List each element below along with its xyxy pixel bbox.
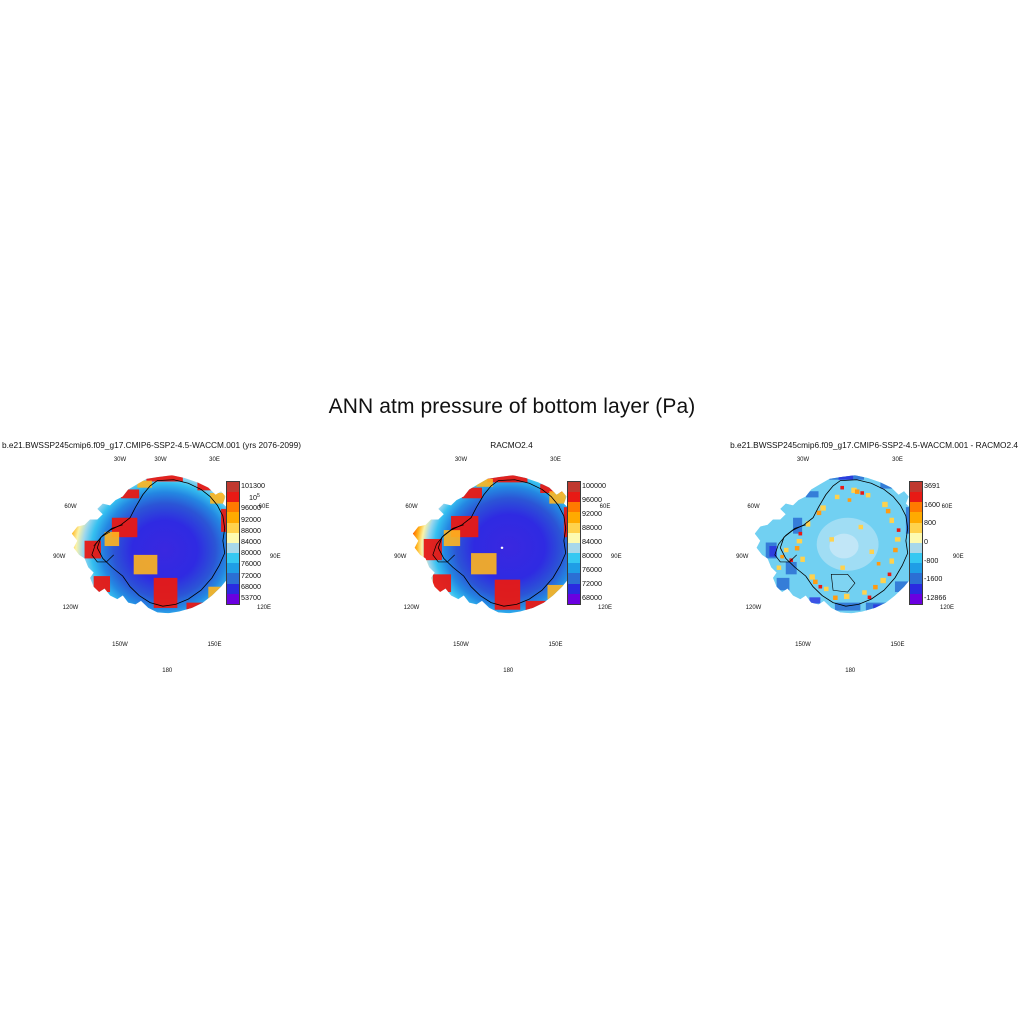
colorbar-segment (909, 594, 923, 605)
lon-label-150e: 150E (548, 642, 562, 648)
colorbar-tick-label: -1600 (924, 575, 942, 583)
lon-label-180: 180 (503, 668, 513, 674)
colorbar-tick-label: 72000 (241, 572, 261, 580)
colorbar-segment (567, 563, 581, 573)
colorbar-tick-label: 96000 (582, 496, 602, 504)
colorbar-tick-label: 88000 (241, 527, 261, 535)
colorbar-tick-label: 96000 (241, 504, 261, 512)
lon-label-120e: 120E (940, 605, 954, 611)
colorbar-segment (909, 533, 923, 543)
colorbar-segment (226, 573, 240, 583)
page-title: ANN atm pressure of bottom layer (Pa) (0, 395, 1024, 419)
colorbar-tick-label: 105 (249, 492, 260, 502)
panel-right-title: b.e21.BWSSP245cmip6.f09_g17.CMIP6-SSP2-4… (730, 440, 1018, 450)
colorbar-segment (567, 481, 581, 492)
colorbar-segment (226, 543, 240, 553)
colorbar-tick-label: -12866 (924, 594, 946, 602)
colorbar-tick-label: -800 (924, 557, 938, 565)
colorbar-segment (567, 492, 581, 502)
colorbar-segment (567, 573, 581, 583)
panel-right: b.e21.BWSSP245cmip6.f09_g17.CMIP6-SSP2-4… (683, 440, 1024, 660)
lon-label-90w: 90W (736, 554, 748, 560)
lon-label-150w: 150W (112, 642, 128, 648)
colorbar-segment (909, 584, 923, 594)
panel-mid-title: RACMO2.4 (341, 440, 682, 450)
antarctica-map-left (70, 470, 252, 638)
colorbar-segment (909, 563, 923, 573)
colorbar-tick-label: 80000 (241, 549, 261, 557)
lon-label-120e: 120E (598, 605, 612, 611)
colorbar-tick-label: 100000 (582, 482, 606, 490)
lon-label-30e: 30E (550, 457, 561, 463)
colorbar-tick-label: 72000 (582, 580, 602, 588)
colorbar-tick-label: 68000 (582, 594, 602, 602)
colorbar-tick-label: 76000 (582, 566, 602, 574)
lon-label-30w: 30W (154, 457, 166, 463)
colorbar-segment (226, 523, 240, 533)
lon-label-150e: 150E (207, 642, 221, 648)
colorbar-tick-label: 68000 (241, 583, 261, 591)
panel-mid: RACMO2.4 30W 30E 60W 60E 90W 90E 120W 12… (341, 440, 682, 660)
colorbar-right-strip (909, 481, 921, 603)
colorbar-tick-label: 800 (924, 519, 936, 527)
colorbar-segment (567, 512, 581, 522)
colorbar-segment (567, 594, 581, 605)
colorbar-tick-label: 101300 (241, 482, 265, 490)
colorbar-segment (909, 573, 923, 583)
colorbar-tick-label: 3691 (924, 482, 940, 490)
lon-label-30w-a: 30W (114, 457, 126, 463)
colorbar-mid: 1000009600092000880008400080000760007200… (567, 481, 579, 603)
colorbar-tick-label: 0 (924, 538, 928, 546)
colorbar-tick-label: 53700 (241, 594, 261, 602)
lon-label-30w: 30W (455, 457, 467, 463)
colorbar-segment (567, 523, 581, 533)
colorbar-segment (567, 533, 581, 543)
colorbar-segment (909, 553, 923, 563)
lon-label-180: 180 (845, 668, 855, 674)
colorbar-segment (226, 584, 240, 594)
lon-label-90e: 90E (611, 554, 622, 560)
figure-root: ANN atm pressure of bottom layer (Pa) b.… (0, 0, 1024, 1024)
colorbar-tick-label: 92000 (582, 510, 602, 518)
colorbar-tick-label: 76000 (241, 560, 261, 568)
colorbar-segment (567, 502, 581, 512)
colorbar-tick-label: 92000 (241, 516, 261, 524)
colorbar-segment (909, 543, 923, 553)
colorbar-right: 369116008000-800-1600-12866 (909, 481, 921, 603)
colorbar-tick-label: 80000 (582, 552, 602, 560)
lon-label-30w: 30W (797, 457, 809, 463)
colorbar-segment (909, 512, 923, 522)
lon-label-60e: 60E (942, 504, 953, 510)
lon-label-150w: 150W (453, 642, 469, 648)
lon-label-30e: 30E (892, 457, 903, 463)
colorbar-segment (226, 481, 240, 492)
lon-label-30e: 30E (209, 457, 220, 463)
lon-label-120e: 120E (257, 605, 271, 611)
lon-label-90w: 90W (53, 554, 65, 560)
lon-label-150e: 150E (890, 642, 904, 648)
antarctica-map-mid (411, 470, 593, 638)
lon-label-90e: 90E (953, 554, 964, 560)
colorbar-tick-label: 88000 (582, 524, 602, 532)
lon-label-150w: 150W (795, 642, 811, 648)
antarctica-map-right (753, 470, 935, 638)
panel-left-title: b.e21.BWSSP245cmip6.f09_g17.CMIP6-SSP2-4… (2, 440, 301, 450)
lon-label-90e: 90E (270, 554, 281, 560)
colorbar-segment (909, 523, 923, 533)
colorbar-tick-label: 84000 (582, 538, 602, 546)
colorbar-segment (226, 563, 240, 573)
colorbar-segment (567, 543, 581, 553)
colorbar-segment (909, 492, 923, 502)
colorbar-segment (909, 481, 923, 492)
colorbar-segment (226, 594, 240, 605)
colorbar-segment (226, 533, 240, 543)
panel-left: b.e21.BWSSP245cmip6.f09_g17.CMIP6-SSP2-4… (0, 440, 341, 660)
colorbar-left-strip (226, 481, 238, 603)
colorbar-segment (226, 553, 240, 563)
colorbar-segment (567, 553, 581, 563)
lon-label-180: 180 (162, 668, 172, 674)
colorbar-segment (909, 502, 923, 512)
colorbar-segment (226, 492, 240, 502)
colorbar-segment (226, 502, 240, 512)
colorbar-mid-strip (567, 481, 579, 603)
colorbar-segment (567, 584, 581, 594)
colorbar-segment (226, 512, 240, 522)
colorbar-left: 1013001059600092000880008400080000760007… (226, 481, 238, 603)
lon-label-90w: 90W (394, 554, 406, 560)
colorbar-tick-label: 1600 (924, 501, 940, 509)
colorbar-tick-label: 84000 (241, 538, 261, 546)
